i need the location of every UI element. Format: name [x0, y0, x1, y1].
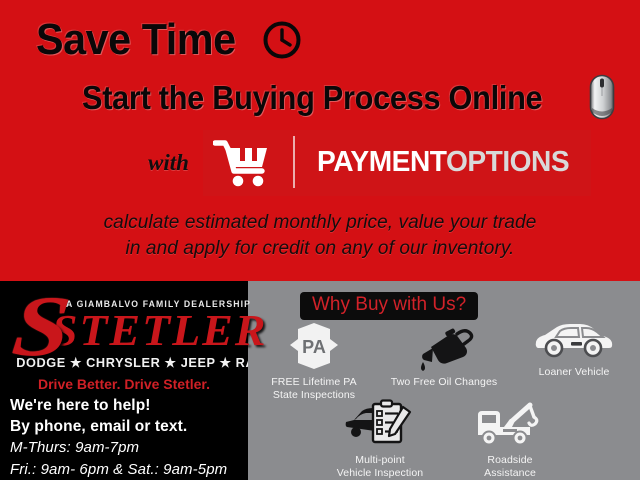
wordmark-payment: PAYMENT	[317, 146, 446, 178]
tagline-line-1: calculate estimated monthly price, value…	[0, 210, 640, 236]
svg-text:PA: PA	[302, 337, 326, 357]
dealer-family-line: A GIAMBALVO FAMILY DEALERSHIP	[66, 299, 251, 309]
hero-panel: Save Time Start the Buying Process Onlin…	[0, 0, 640, 281]
benefit-item-multipoint-inspection: Multi-point Vehicle Inspection	[316, 399, 444, 479]
dealer-slogan: Drive Better. Drive Stetler.	[14, 376, 234, 392]
benefit-label-line-1: Roadside	[446, 454, 574, 467]
contact-block: We're here to help! By phone, email or t…	[10, 395, 248, 480]
benefit-label-line-2: Vehicle Inspection	[316, 467, 444, 480]
benefit-label-line-1: Multi-point	[316, 454, 444, 467]
with-label: with	[148, 150, 189, 176]
tow-truck-icon	[446, 401, 574, 449]
benefit-label-line-1: FREE Lifetime PA	[250, 376, 378, 389]
oil-can-icon	[380, 325, 508, 371]
payment-options-wordmark: PAYMENTOPTIONS	[317, 146, 569, 179]
wordmark-options: OPTIONS	[446, 146, 569, 178]
dealer-monogram: S	[9, 283, 74, 369]
benefit-item-oil-changes: Two Free Oil Changes	[380, 325, 508, 389]
benefits-panel: Why Buy with Us? PA FREE Lifetime PA Sta…	[248, 281, 640, 480]
advertisement-banner: Save Time Start the Buying Process Onlin…	[0, 0, 640, 480]
benefit-label-line-1: Two Free Oil Changes	[380, 376, 508, 389]
shopping-cart-icon	[213, 136, 273, 188]
clipboard-checklist-icon	[316, 399, 444, 449]
benefits-heading: Why Buy with Us?	[300, 292, 478, 320]
logo-divider	[293, 136, 295, 188]
tagline-line-2: in and apply for credit on any of our in…	[0, 236, 640, 262]
benefit-item-loaner-vehicle: Loaner Vehicle	[510, 319, 638, 379]
headline-save-time: Save Time	[36, 16, 236, 64]
hero-tagline: calculate estimated monthly price, value…	[0, 210, 640, 262]
benefit-item-roadside-assistance: Roadside Assistance	[446, 401, 574, 479]
dealer-name: STETLER	[52, 307, 267, 355]
payment-options-logo: with PAYMENTOPTIONS	[148, 130, 591, 196]
contact-hours-weekend: Fri.: 9am- 6pm & Sat.: 9am-5pm	[10, 459, 248, 480]
car-icon	[510, 319, 638, 361]
benefit-label-line-1: Loaner Vehicle	[510, 366, 638, 379]
headline-row-1: Save Time	[36, 16, 302, 64]
headline-start-buying: Start the Buying Process Online	[82, 79, 542, 117]
clock-icon	[262, 20, 302, 60]
dealer-panel: S A GIAMBALVO FAMILY DEALERSHIP STETLER …	[0, 281, 248, 480]
benefit-item-pa-inspection: PA FREE Lifetime PA State Inspections	[250, 321, 378, 401]
headline-row-2: Start the Buying Process Online	[82, 74, 615, 122]
computer-mouse-icon	[589, 74, 615, 120]
pa-keystone-icon: PA	[250, 321, 378, 371]
contact-line-2: By phone, email or text.	[10, 416, 248, 437]
contact-line-1: We're here to help!	[10, 395, 248, 416]
contact-hours-weekday: M-Thurs: 9am-7pm	[10, 437, 248, 459]
dealer-logo: S A GIAMBALVO FAMILY DEALERSHIP STETLER …	[0, 281, 248, 389]
payment-options-lockup: PAYMENTOPTIONS	[203, 130, 591, 196]
benefit-label-line-2: Assistance	[446, 467, 574, 480]
